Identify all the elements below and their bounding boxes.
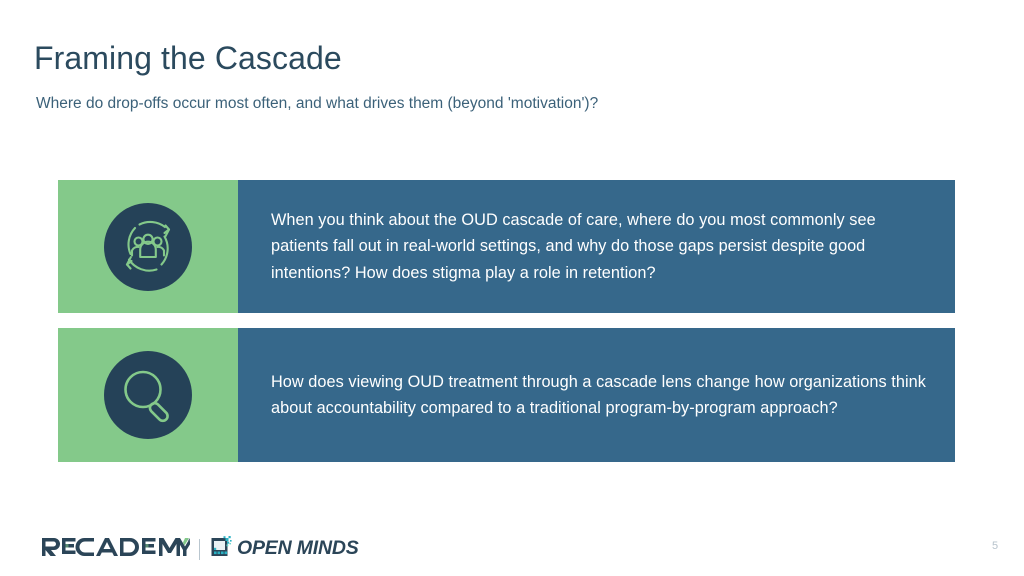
page-title: Framing the Cascade	[34, 38, 342, 78]
card-text-panel: How does viewing OUD treatment through a…	[238, 328, 955, 462]
open-minds-wordmark: OPEN MINDS	[237, 539, 359, 559]
pixel-square-icon	[210, 535, 234, 564]
card-text: When you think about the OUD cascade of …	[271, 207, 929, 287]
slide-canvas: Framing the Cascade Where do drop-offs o…	[0, 0, 1024, 576]
page-number: 5	[985, 540, 1005, 552]
svg-text:™: ™	[187, 539, 190, 545]
icon-badge	[104, 203, 192, 291]
open-minds-logo: OPEN MINDS	[210, 535, 359, 564]
people-cycle-icon	[115, 214, 181, 280]
card-icon-panel	[58, 328, 238, 462]
logo-divider	[199, 539, 200, 560]
page-subtitle: Where do drop-offs occur most often, and…	[36, 93, 598, 115]
discussion-card: When you think about the OUD cascade of …	[58, 180, 955, 313]
card-icon-panel	[58, 180, 238, 313]
card-text: How does viewing OUD treatment through a…	[271, 369, 929, 422]
footer-logo-lockup: ™	[42, 534, 359, 564]
recademy-logo: ™	[42, 536, 190, 563]
card-text-panel: When you think about the OUD cascade of …	[238, 180, 955, 313]
discussion-card: How does viewing OUD treatment through a…	[58, 328, 955, 462]
icon-badge	[104, 351, 192, 439]
magnifying-glass-icon	[116, 363, 180, 427]
